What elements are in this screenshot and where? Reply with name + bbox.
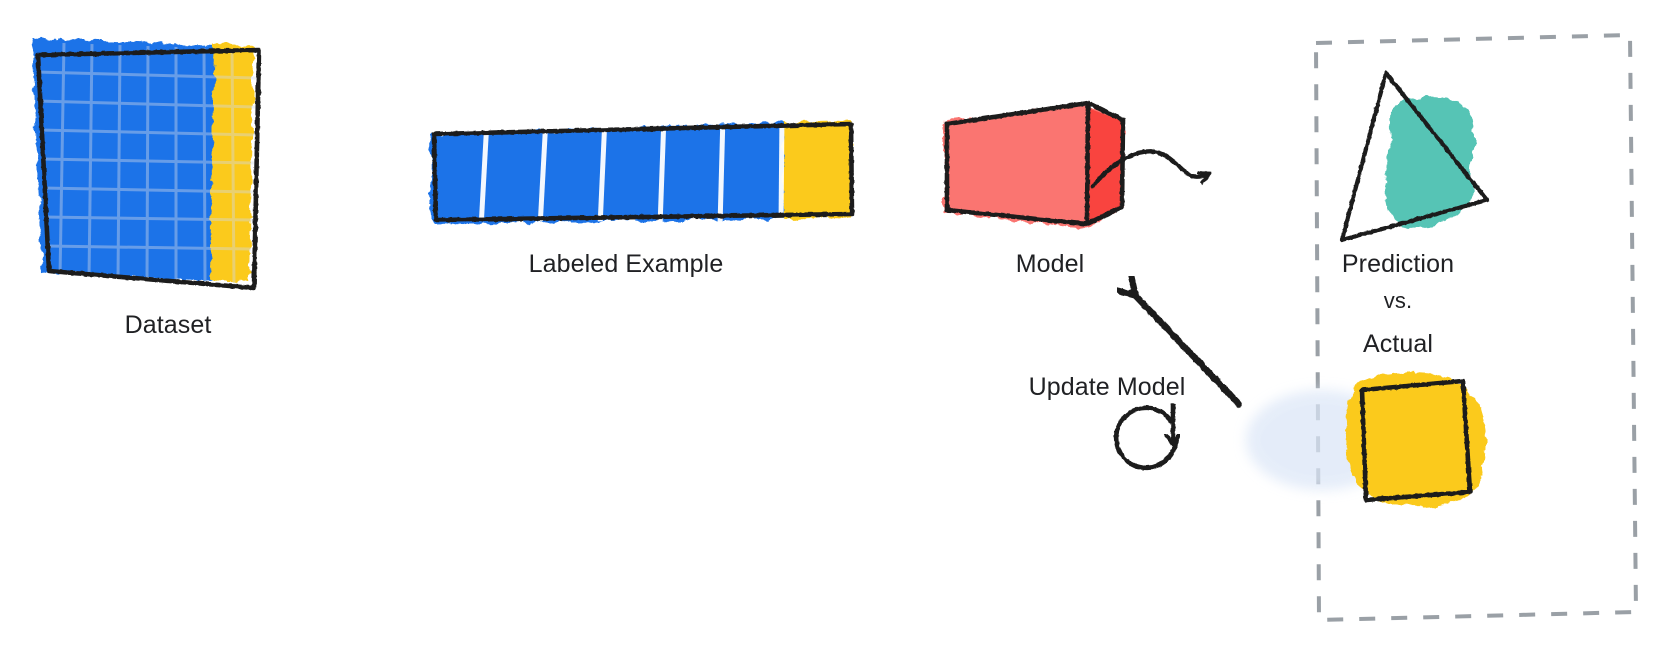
comparison-dashed-box <box>1316 35 1636 620</box>
dataset-grid-icon <box>32 38 259 288</box>
diagram-canvas: Dataset Labeled Example Model Prediction… <box>0 0 1660 668</box>
update-model-label: Update Model <box>1022 373 1192 402</box>
refresh-circular-arrow-icon <box>1116 405 1176 468</box>
prediction-triangle-icon <box>1342 73 1487 240</box>
labeled-example-label: Labeled Example <box>521 250 731 279</box>
versus-label: vs. <box>1358 288 1438 314</box>
dataset-label: Dataset <box>108 311 228 340</box>
model-box-icon <box>944 103 1124 229</box>
model-label: Model <box>1000 250 1100 279</box>
labeled-example-row-icon <box>430 114 852 228</box>
prediction-label: Prediction <box>1318 250 1478 279</box>
actual-label: Actual <box>1338 330 1458 359</box>
actual-square-icon <box>1246 372 1486 506</box>
